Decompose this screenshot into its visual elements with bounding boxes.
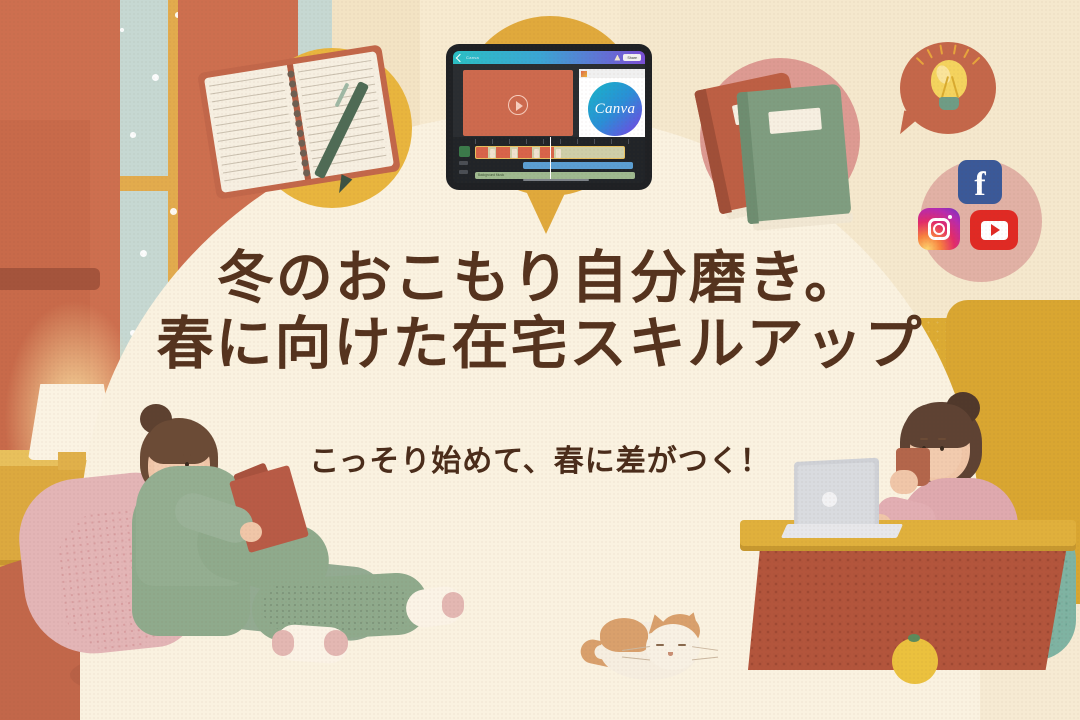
person-left-hand	[240, 522, 262, 542]
cat-nose	[668, 652, 673, 656]
headline-line-1: 冬のおこもり自分磨き。	[0, 248, 1080, 308]
timeline-tool-3[interactable]	[459, 170, 468, 174]
timeline-music-label: Background Music	[478, 173, 504, 177]
instagram-icon[interactable]	[918, 208, 960, 250]
timeline-tool-icon[interactable]	[459, 146, 470, 157]
canva-logo-text: Canva	[595, 101, 636, 118]
lightbulb-ray	[939, 44, 943, 54]
lightbulb-ray	[916, 57, 925, 66]
laptop-keyboard	[781, 524, 903, 538]
back-arrow-icon[interactable]	[456, 53, 464, 61]
editor-topbar: Canva Share	[453, 51, 645, 64]
cat-eye-left	[656, 644, 664, 646]
book-green-icon	[736, 84, 851, 225]
video-preview[interactable]	[463, 70, 573, 136]
laptop-logo	[822, 492, 837, 507]
subtitle: こっそり始めて、春に差がつく！	[0, 436, 1080, 480]
snowflake	[130, 132, 136, 138]
mandarin-leaf	[908, 634, 920, 642]
lightbulb-ray	[972, 57, 981, 66]
snowflake	[152, 74, 159, 81]
lightbulb-ray	[926, 49, 933, 59]
timeline-playhead[interactable]	[550, 137, 551, 181]
editor-timeline[interactable]: Background Music	[453, 137, 645, 183]
canva-panel[interactable]: Canva	[579, 69, 645, 141]
play-icon[interactable]	[508, 95, 528, 115]
instagram-lens	[933, 223, 945, 235]
person-left-sock-right-toe	[442, 592, 464, 618]
lightbulb-base	[939, 97, 959, 110]
youtube-play-triangle	[991, 224, 1000, 236]
home-indicator	[523, 179, 589, 181]
canva-logo: Canva	[588, 82, 642, 136]
timeline-tool-2[interactable]	[459, 161, 468, 165]
instagram-dot	[948, 215, 952, 219]
canva-thumbnail-icon[interactable]	[581, 71, 587, 77]
youtube-icon[interactable]	[970, 210, 1018, 250]
facebook-glyph: f	[974, 168, 985, 202]
winter-skillup-banner: Canva Share Canva	[0, 0, 1080, 720]
person-left-sock-left-toe	[324, 630, 348, 656]
youtube-play-box	[981, 221, 1008, 240]
snowflake	[120, 28, 124, 32]
person-left-sock-left-heel	[272, 630, 294, 656]
timeline-ruler	[475, 139, 645, 144]
canva-panel-toolbar	[579, 69, 645, 78]
timeline-audio-track[interactable]	[523, 162, 633, 169]
lightbulb-ray	[953, 44, 957, 54]
mandarin-orange-icon	[892, 638, 938, 684]
cat-eye-right	[678, 644, 686, 646]
snowflake	[170, 208, 177, 215]
timeline-music-track[interactable]: Background Music	[475, 172, 635, 179]
book-green-label	[768, 108, 822, 134]
person-left-shin-texture	[262, 584, 412, 630]
headline-line-2: 春に向けた在宅スキルアップ	[0, 314, 1080, 374]
facebook-icon[interactable]: f	[958, 160, 1002, 204]
page-title: 冬のおこもり自分磨き。 春に向けた在宅スキルアップ	[0, 248, 1080, 375]
lightbulb-ray	[963, 49, 970, 59]
tablet-device[interactable]: Canva Share Canva	[446, 44, 652, 190]
share-button[interactable]: Share	[623, 54, 641, 61]
tablet-screen[interactable]: Canva Share Canva	[453, 51, 645, 183]
upload-icon[interactable]	[614, 55, 620, 61]
editor-title: Canva	[466, 55, 479, 60]
